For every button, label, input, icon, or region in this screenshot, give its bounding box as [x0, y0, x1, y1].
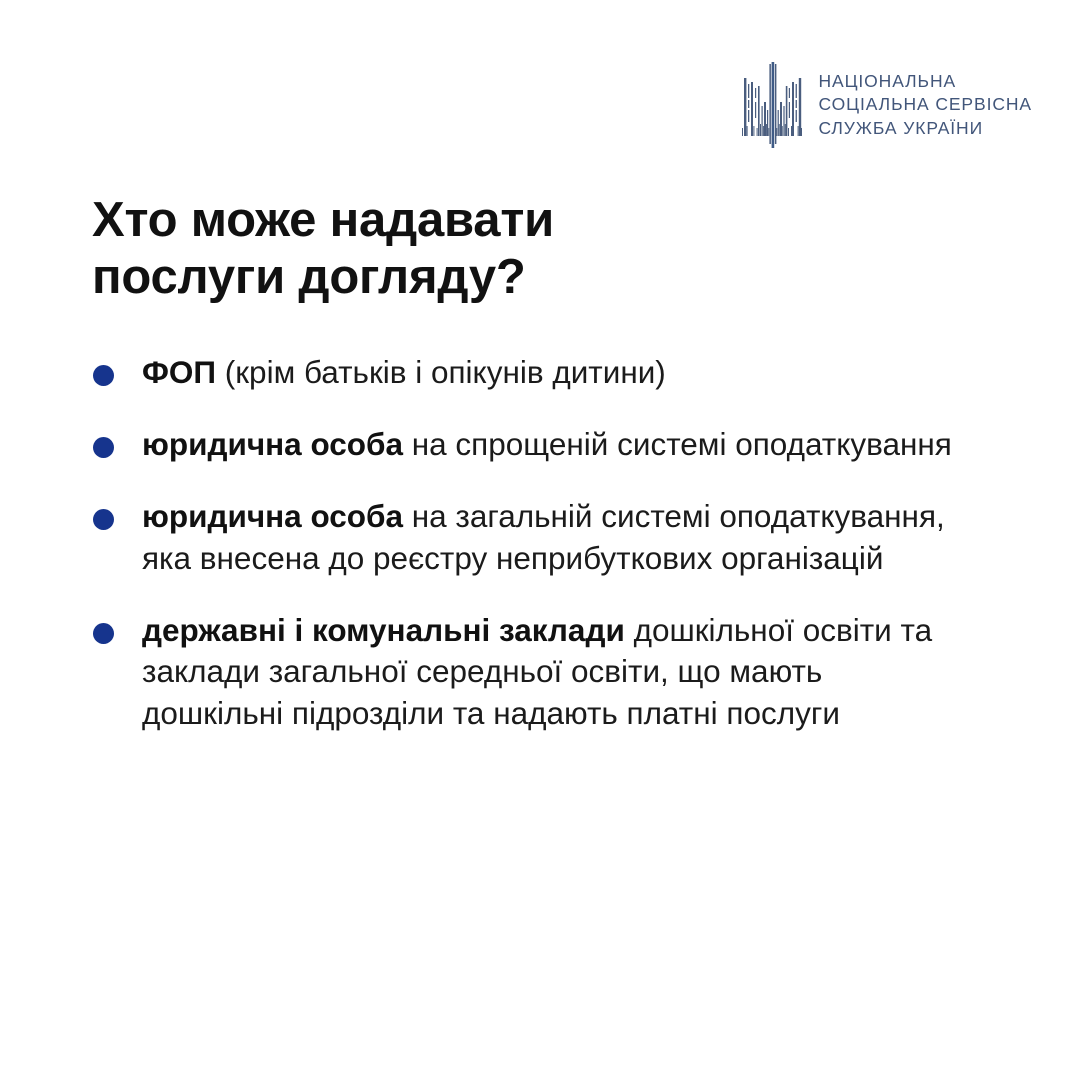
bullet-dot-icon [93, 623, 114, 644]
bullet-dot-icon [93, 509, 114, 530]
trident-bars-emblem-icon [740, 62, 802, 148]
bullet-dot-icon [93, 365, 114, 386]
list-item-text: ФОП (крім батьків і опікунів дитини) [142, 352, 972, 394]
list-item-emphasis: державні і комунальні заклади [142, 612, 625, 648]
list-item-emphasis: юридична особа [142, 498, 403, 534]
logo-line-3: СЛУЖБА УКРАЇНИ [818, 119, 1032, 139]
list-item-rest: (крім батьків і опікунів дитини) [216, 354, 666, 390]
list-item: юридична особа на загальній системі опод… [92, 496, 972, 580]
list-item: державні і комунальні заклади дошкільної… [92, 610, 972, 736]
bullet-dot-icon [93, 437, 114, 458]
logo-line-2: СОЦІАЛЬНА СЕРВІСНА [818, 95, 1032, 115]
page-title-line-2: послуги догляду? [92, 249, 852, 306]
logo-wordmark: НАЦІОНАЛЬНА СОЦІАЛЬНА СЕРВІСНА СЛУЖБА УК… [818, 72, 1032, 139]
list-item: ФОП (крім батьків і опікунів дитини) [92, 352, 972, 394]
list-item-emphasis: юридична особа [142, 426, 403, 462]
list-item: юридична особа на спрощеній системі опод… [92, 424, 972, 466]
list-item-text: юридична особа на загальній системі опод… [142, 496, 972, 580]
list-item-text: юридична особа на спрощеній системі опод… [142, 424, 972, 466]
organization-logo: НАЦІОНАЛЬНА СОЦІАЛЬНА СЕРВІСНА СЛУЖБА УК… [740, 62, 1032, 148]
infographic-card: НАЦІОНАЛЬНА СОЦІАЛЬНА СЕРВІСНА СЛУЖБА УК… [0, 0, 1080, 1080]
list-item-emphasis: ФОП [142, 354, 216, 390]
list-item-rest: на спрощеній системі оподаткування [403, 426, 952, 462]
page-title-line-1: Хто може надавати [92, 192, 852, 249]
list-item-text: державні і комунальні заклади дошкільної… [142, 610, 972, 736]
provider-types-list: ФОП (крім батьків і опікунів дитини) юри… [92, 352, 972, 735]
page-title: Хто може надавати послуги догляду? [92, 192, 852, 307]
logo-line-1: НАЦІОНАЛЬНА [818, 72, 1032, 92]
